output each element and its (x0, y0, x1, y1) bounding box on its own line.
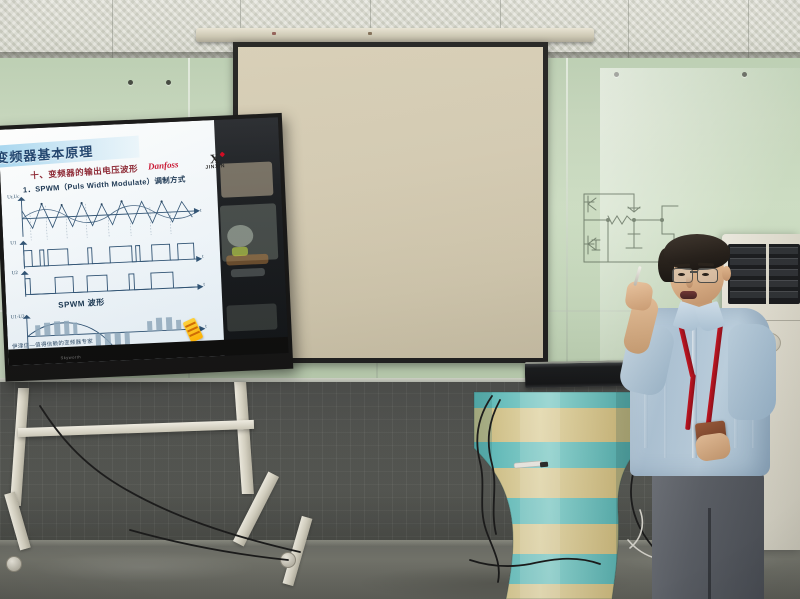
axis-label-ur-uc: Ur,Uc (7, 195, 19, 201)
instructor (612, 238, 782, 599)
presenter-right-sleeve (728, 324, 776, 420)
presenter-nose (686, 276, 693, 288)
slide-title-text: 变频器基本原理 (0, 141, 94, 167)
eyeglass-bridge (690, 271, 698, 273)
axis-label-t4: t (205, 325, 207, 330)
axis-label-u1-u2: U1-U2 (11, 315, 25, 321)
presenter-mouth (680, 291, 697, 299)
axis-label-u2: U2 (12, 271, 18, 276)
presenter-eye-right (702, 273, 709, 276)
classroom-photo-scene: AC 变频器基本原理 十、变频器的输出电压波 (0, 0, 800, 599)
presenter-ear (722, 266, 731, 281)
jinxin-logo: X JINXIN (197, 153, 232, 172)
danfoss-logo: Danfoss (148, 159, 179, 171)
axis-label-u1: U1 (10, 241, 16, 246)
presenter-eye-left (678, 273, 685, 276)
axis-label-t2: t (202, 255, 204, 260)
axis-label-t1: t (200, 209, 202, 214)
pants-crease (708, 508, 711, 599)
presentation-slide: 变频器基本原理 十、变频器的输出电压波形 1．SPWM（Puls Width M… (0, 120, 224, 366)
axis-label-t3: t (203, 283, 205, 288)
spwm-caption: SPWM 波形 (58, 297, 105, 311)
presenter-raised-hand (624, 280, 654, 311)
projection-screen-roller[interactable] (196, 28, 594, 42)
